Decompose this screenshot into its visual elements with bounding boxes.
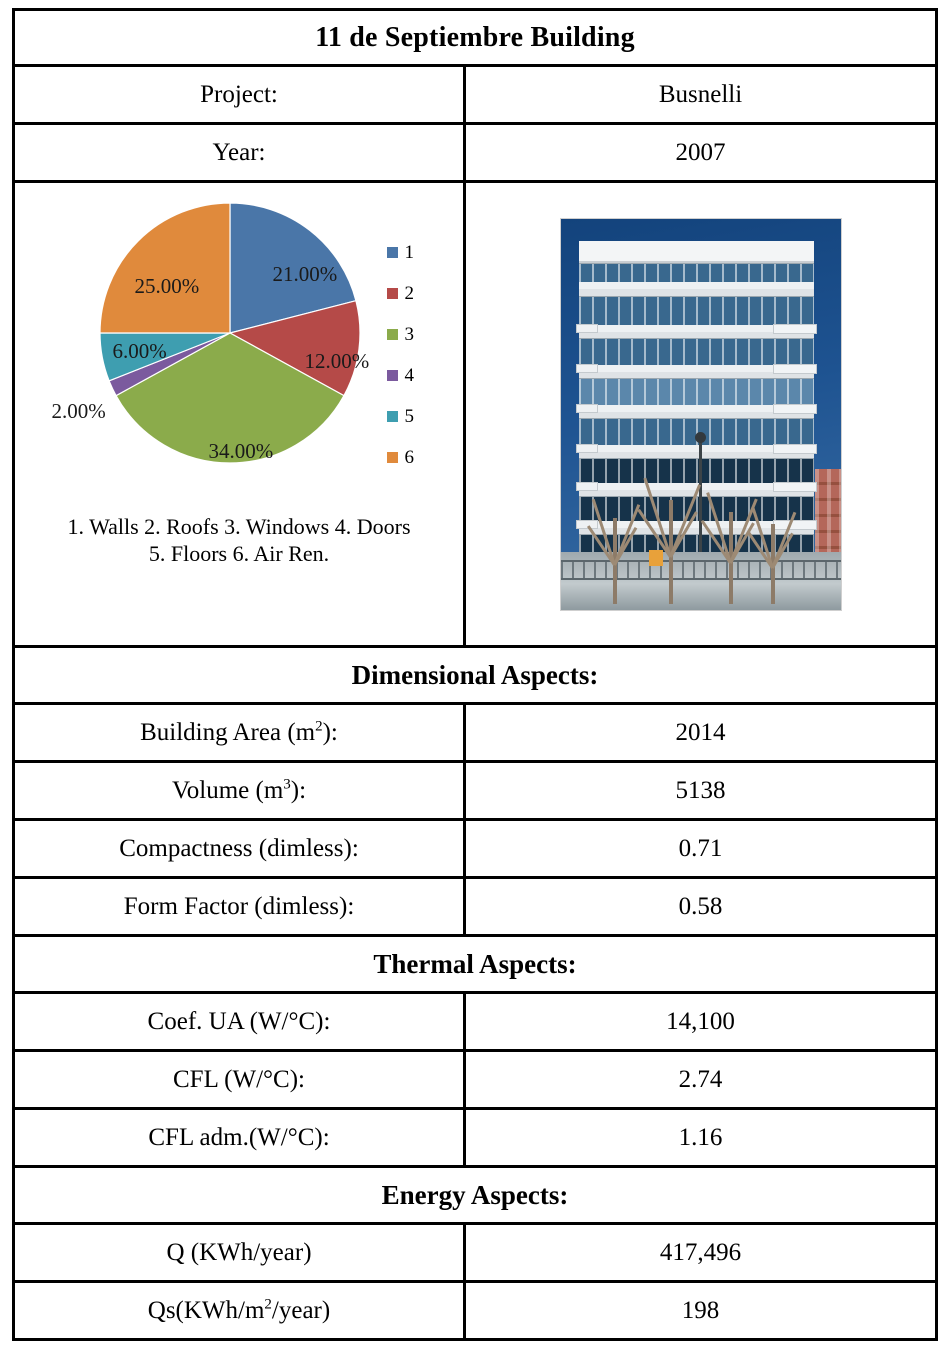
pie-legend: 1 2 3	[387, 232, 447, 478]
title-row: 11 de Septiembre Building	[14, 10, 937, 66]
legend-label-3: 3	[405, 325, 415, 344]
pie-chart-cell: 21.00% 12.00% 34.00% 2.00% 6.00% 25.00% …	[14, 182, 465, 647]
table-row: Q (KWh/year)417,496	[14, 1224, 937, 1282]
label-year: Year:	[14, 124, 465, 182]
row-value: 0.58	[465, 878, 937, 936]
pie-slice-6	[100, 203, 230, 333]
table-row: Qs(KWh/m2/year)198	[14, 1282, 937, 1340]
legend-label-5: 5	[405, 407, 415, 426]
media-row: 21.00% 12.00% 34.00% 2.00% 6.00% 25.00% …	[14, 182, 937, 647]
label-project: Project:	[14, 66, 465, 124]
balcony-right-2	[773, 364, 817, 374]
legend-item-3: 3	[387, 314, 447, 355]
section-header-3: Energy Aspects:	[14, 1167, 937, 1224]
balcony-right-4	[773, 444, 817, 454]
row-value: 2.74	[465, 1051, 937, 1109]
street-railing	[561, 560, 841, 580]
table-row-project: Project: Busnelli	[14, 66, 937, 124]
street-lamp	[699, 440, 702, 560]
legend-label-2: 2	[405, 284, 415, 303]
bare-tree-3	[729, 512, 733, 604]
balcony-right-1	[773, 324, 817, 334]
value-year: 2007	[465, 124, 937, 182]
section-header-row: Energy Aspects:	[14, 1167, 937, 1224]
table-row: CFL (W/°C):2.74	[14, 1051, 937, 1109]
pie-caption-line-1: 1. Walls 2. Roofs 3. Windows 4. Doors	[17, 514, 462, 541]
bare-tree-4	[771, 524, 775, 604]
balcony-right-6	[773, 520, 817, 530]
legend-item-1: 1	[387, 232, 447, 273]
legend-swatch-icon-4	[387, 370, 398, 381]
pie-slice-label-1: 21.00%	[273, 262, 338, 287]
legend-item-4: 4	[387, 355, 447, 396]
legend-label-4: 4	[405, 366, 415, 385]
value-project: Busnelli	[465, 66, 937, 124]
row-value: 1.16	[465, 1109, 937, 1167]
legend-swatch-icon-6	[387, 452, 398, 463]
legend-swatch-icon-1	[387, 247, 398, 258]
row-label: Q (KWh/year)	[14, 1224, 465, 1282]
pie-slice-label-5: 6.00%	[113, 339, 167, 364]
balcony-left-4	[576, 444, 598, 453]
row-value: 198	[465, 1282, 937, 1340]
row-label: Building Area (m2):	[14, 704, 465, 762]
row-label: CFL adm.(W/°C):	[14, 1109, 465, 1167]
legend-swatch-icon-3	[387, 329, 398, 340]
energy-loss-pie-chart: 21.00% 12.00% 34.00% 2.00% 6.00% 25.00% …	[17, 184, 462, 644]
table-row: Compactness (dimless):0.71	[14, 820, 937, 878]
legend-item-2: 2	[387, 273, 447, 314]
pie-slice-label-6: 25.00%	[135, 274, 200, 299]
section-header-row: Dimensional Aspects:	[14, 647, 937, 704]
legend-swatch-icon-2	[387, 288, 398, 299]
row-label: Compactness (dimless):	[14, 820, 465, 878]
legend-label-6: 6	[405, 448, 415, 467]
row-label: Coef. UA (W/°C):	[14, 993, 465, 1051]
row-label: Form Factor (dimless):	[14, 878, 465, 936]
page-title: 11 de Septiembre Building	[14, 10, 937, 66]
balcony-right-5	[773, 482, 817, 492]
balcony-left-1	[576, 324, 598, 333]
legend-label-1: 1	[405, 243, 415, 262]
row-value: 5138	[465, 762, 937, 820]
legend-swatch-icon-5	[387, 411, 398, 422]
pie-slice-label-2: 12.00%	[305, 349, 370, 374]
pie-caption: 1. Walls 2. Roofs 3. Windows 4. Doors 5.…	[17, 514, 462, 568]
section-header-row: Thermal Aspects:	[14, 936, 937, 993]
bare-tree-2	[669, 500, 673, 604]
section-header-2: Thermal Aspects:	[14, 936, 937, 993]
building-photo-cell	[465, 182, 937, 647]
table-row: Coef. UA (W/°C):14,100	[14, 993, 937, 1051]
building-photo	[560, 218, 842, 611]
row-value: 417,496	[465, 1224, 937, 1282]
row-value: 2014	[465, 704, 937, 762]
balcony-left-5	[576, 482, 598, 491]
pie-caption-line-2: 5. Floors 6. Air Ren.	[17, 541, 462, 568]
pie-figure: 21.00% 12.00% 34.00% 2.00% 6.00% 25.00% …	[17, 184, 462, 514]
row-label: Volume (m3):	[14, 762, 465, 820]
row-value: 14,100	[465, 993, 937, 1051]
pie-svg	[99, 202, 361, 464]
legend-item-5: 5	[387, 396, 447, 437]
street-sign	[649, 550, 663, 566]
row-label: CFL (W/°C):	[14, 1051, 465, 1109]
balcony-left-2	[576, 364, 598, 373]
table-row: CFL adm.(W/°C):1.16	[14, 1109, 937, 1167]
table-row: Volume (m3):5138	[14, 762, 937, 820]
bare-tree-1	[613, 518, 617, 604]
table-row-year: Year: 2007	[14, 124, 937, 182]
building-facade	[579, 241, 814, 551]
table-row: Form Factor (dimless):0.58	[14, 878, 937, 936]
building-fact-sheet: 11 de Septiembre Building Project: Busne…	[0, 0, 947, 1352]
section-header-1: Dimensional Aspects:	[14, 647, 937, 704]
table-row: Building Area (m2):2014	[14, 704, 937, 762]
legend-item-6: 6	[387, 437, 447, 478]
pie-slice-label-3: 34.00%	[209, 439, 274, 464]
row-label: Qs(KWh/m2/year)	[14, 1282, 465, 1340]
fact-table: 11 de Septiembre Building Project: Busne…	[12, 8, 938, 1341]
row-value: 0.71	[465, 820, 937, 878]
roof-parapet	[579, 241, 814, 263]
pie-slice-label-4: 2.00%	[52, 399, 106, 424]
balcony-right-3	[773, 404, 817, 414]
facade-floor-1	[579, 263, 814, 289]
balcony-left-3	[576, 404, 598, 413]
